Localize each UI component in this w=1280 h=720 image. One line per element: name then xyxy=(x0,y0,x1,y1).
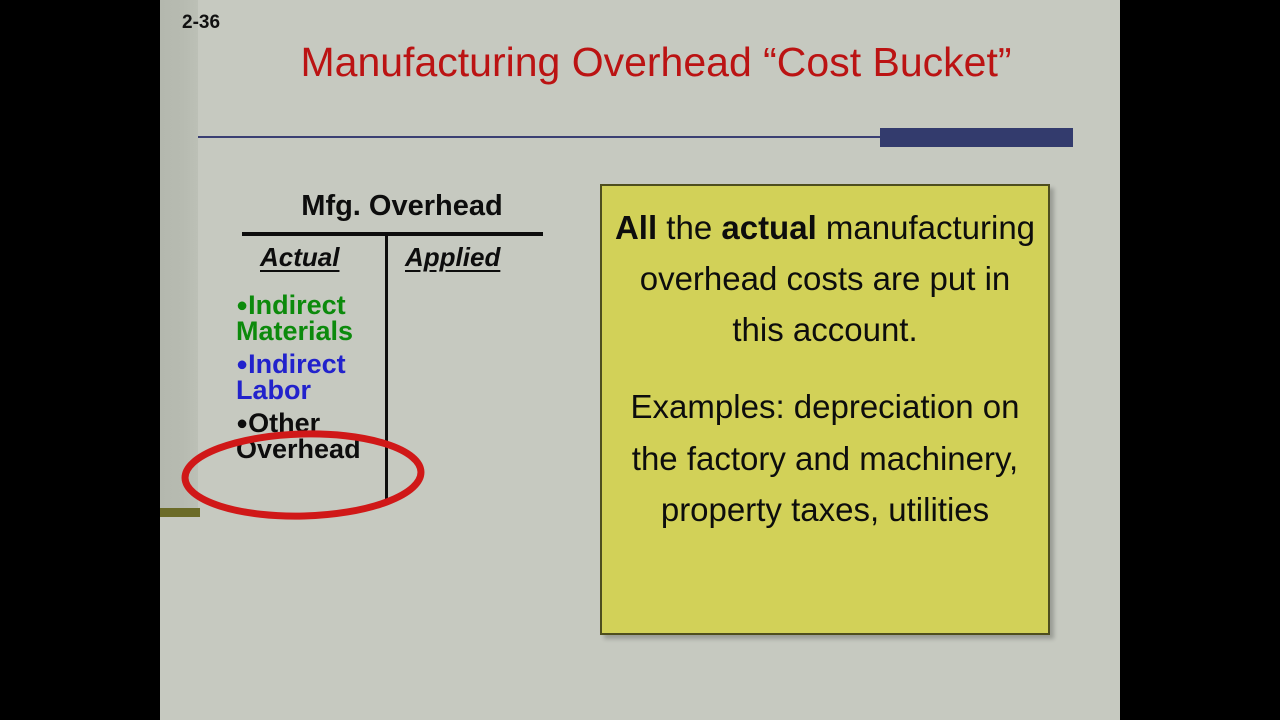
list-item-label: Indirect Labor xyxy=(236,349,346,405)
title-accent-block xyxy=(880,128,1073,147)
t-account-debit-items: ●Indirect Materials ●Indirect Labor ●Oth… xyxy=(236,292,384,469)
callout-content: All the actual manufacturing overhead co… xyxy=(612,202,1038,561)
slide-canvas: 2-36 Manufacturing Overhead “Cost Bucket… xyxy=(160,0,1120,720)
callout-box: All the actual manufacturing overhead co… xyxy=(600,184,1050,635)
callout-run-actual: actual xyxy=(721,209,816,246)
t-account-diagram: Mfg. Overhead Actual Applied ●Indirect M… xyxy=(220,190,620,520)
t-account-vertical-rule xyxy=(385,233,388,505)
page-number: 2-36 xyxy=(182,12,220,34)
list-item: ●Indirect Materials xyxy=(236,292,384,345)
bullet-icon: ● xyxy=(236,412,248,434)
t-account-column-actual: Actual xyxy=(260,242,339,273)
callout-paragraph-2: Examples: depreciation on the factory an… xyxy=(612,381,1038,534)
bullet-icon: ● xyxy=(236,295,248,317)
page-title: Manufacturing Overhead “Cost Bucket” xyxy=(198,40,1114,85)
letterbox-stage: 2-36 Manufacturing Overhead “Cost Bucket… xyxy=(0,0,1280,720)
t-account-column-applied: Applied xyxy=(405,242,500,273)
left-band-accent xyxy=(160,508,200,517)
callout-run-the: the xyxy=(657,209,721,246)
left-decorative-band xyxy=(160,0,198,512)
callout-paragraph-1: All the actual manufacturing overhead co… xyxy=(612,202,1038,355)
list-item: ●Other Overhead xyxy=(236,410,384,463)
callout-examples-text: Examples: depreciation on the factory an… xyxy=(631,388,1020,527)
t-account-horizontal-rule xyxy=(242,232,543,236)
callout-run-all: All xyxy=(615,209,657,246)
t-account-title: Mfg. Overhead xyxy=(242,190,562,223)
list-item-label: Other Overhead xyxy=(236,408,361,464)
list-item: ●Indirect Labor xyxy=(236,351,384,404)
bullet-icon: ● xyxy=(236,354,248,376)
list-item-label: Indirect Materials xyxy=(236,290,353,346)
